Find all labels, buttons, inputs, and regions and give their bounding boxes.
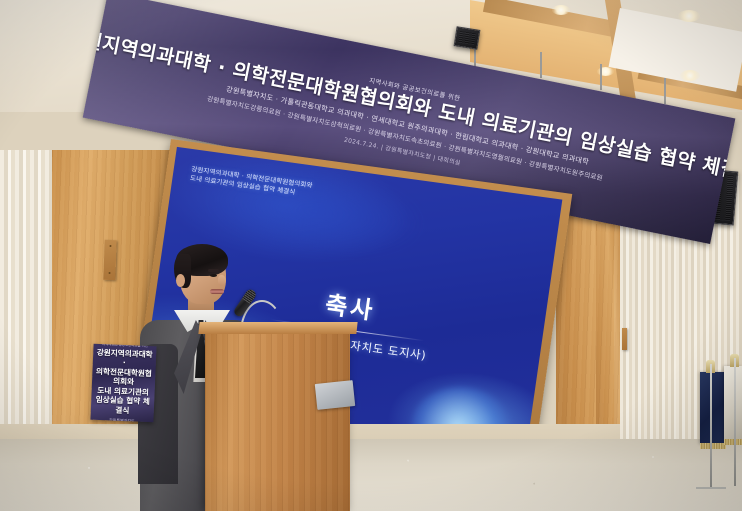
flag-white: [724, 366, 742, 440]
flag-fringe-white: [724, 439, 742, 445]
flagpole-white: [734, 358, 736, 486]
ceiling-speaker-center: [454, 26, 481, 50]
podium-wood-grain: [205, 329, 350, 511]
podium-sign-line4: 임상실습 협약 체결식: [94, 395, 152, 416]
eye: [210, 274, 217, 277]
podium-sign-line2: 의학전문대학원협의회와: [95, 367, 153, 388]
conference-hall-photo: 지역사회와 공공보건의료를 위한 강원지역의과대학 · 의학전문대학원협의회와 …: [0, 0, 742, 511]
wall-plaque-right: [622, 328, 627, 350]
truss-drop-rod-4: [664, 78, 666, 104]
podium: [205, 329, 350, 511]
wood-grain-door: [596, 224, 620, 454]
eyebrow: [208, 269, 219, 272]
downlight-5: [680, 70, 700, 81]
podium-sign: 지역사회와 공공보건의료를 위한 강원지역의과대학 · 의학전문대학원협의회와 …: [90, 344, 156, 423]
podium-laptop: [315, 380, 356, 410]
truss-drop-rod-2: [540, 52, 542, 78]
speaker-mesh: [458, 31, 476, 45]
truss-drop-rod-3: [600, 64, 602, 90]
downlight-2: [552, 5, 570, 15]
flag-stand-navy: [696, 487, 726, 489]
podium-top-edge: [198, 322, 357, 334]
curtain-left: [0, 150, 56, 470]
podium-sign-line1: 강원지역의과대학 ·: [96, 348, 154, 369]
downlight-4: [678, 10, 700, 22]
flag-navy: [700, 372, 726, 444]
nose: [218, 275, 226, 286]
wood-door-far-right: [596, 224, 620, 454]
ear: [176, 274, 185, 287]
mouth-open-speaking: [210, 289, 224, 294]
floor: [0, 439, 742, 511]
flagpole-navy: [710, 364, 712, 488]
floor-texture: [0, 439, 742, 511]
wall-plaque: [103, 240, 116, 280]
flag-fringe: [700, 443, 726, 449]
